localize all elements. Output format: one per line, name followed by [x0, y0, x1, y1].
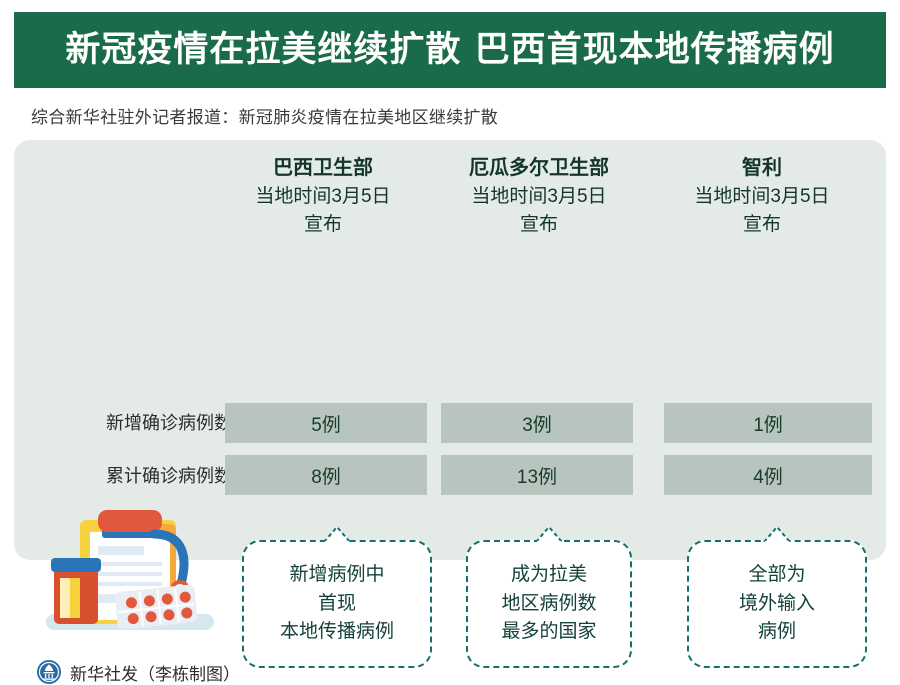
- callout-line: 境外输入: [739, 590, 815, 619]
- table-cell-total-chile: 4例: [664, 455, 872, 495]
- column-date: 当地时间3月5日: [441, 183, 637, 211]
- callout-chile: 全部为 境外输入 病例: [687, 540, 867, 668]
- column-date: 当地时间3月5日: [225, 183, 421, 211]
- table-header-row: 巴西卫生部 当地时间3月5日 宣布 厄瓜多尔卫生部 当地时间3月5日 宣布 智利…: [14, 154, 886, 250]
- row-label-new-cases: 新增确诊病例数: [40, 405, 232, 441]
- subtitle-text: 综合新华社驻外记者报道：新冠肺炎疫情在拉美地区继续扩散: [31, 103, 498, 128]
- callout-pointer-icon: [762, 525, 792, 542]
- page-title: 新冠疫情在拉美继续扩散 巴西首现本地传播病例: [65, 33, 834, 68]
- callout-line: 成为拉美: [511, 561, 587, 590]
- column-header-chile: 智利 当地时间3月5日 宣布: [664, 154, 860, 238]
- column-announce: 宣布: [664, 211, 860, 239]
- column-header-ecuador: 厄瓜多尔卫生部 当地时间3月5日 宣布: [441, 154, 637, 238]
- column-header-brazil: 巴西卫生部 当地时间3月5日 宣布: [225, 154, 421, 238]
- callout-line: 最多的国家: [501, 618, 596, 647]
- column-org-name: 智利: [664, 154, 860, 183]
- table-cell-total-brazil: 8例: [225, 455, 427, 495]
- column-announce: 宣布: [441, 211, 637, 239]
- credit-line: 新华社发（李栋制图）: [36, 659, 240, 685]
- column-date: 当地时间3月5日: [664, 183, 860, 211]
- callout-line: 全部为: [748, 561, 805, 590]
- callout-brazil: 新增病例中 首现 本地传播病例: [242, 540, 432, 668]
- callout-ecuador: 成为拉美 地区病例数 最多的国家: [466, 540, 632, 668]
- row-label-total-cases: 累计确诊病例数: [40, 458, 232, 494]
- callout-line: 本地传播病例: [280, 618, 394, 647]
- column-announce: 宣布: [225, 211, 421, 239]
- header-banner: 新冠疫情在拉美继续扩散 巴西首现本地传播病例: [14, 12, 886, 88]
- callout-line: 首现: [318, 590, 356, 619]
- column-org-name: 厄瓜多尔卫生部: [441, 154, 637, 183]
- content-card: 巴西卫生部 当地时间3月5日 宣布 厄瓜多尔卫生部 当地时间3月5日 宣布 智利…: [14, 140, 886, 560]
- credit-text: 新华社发（李栋制图）: [70, 660, 240, 685]
- callout-line: 新增病例中: [289, 561, 384, 590]
- xinhua-logo-icon: [36, 659, 62, 685]
- column-org-name: 巴西卫生部: [225, 154, 421, 183]
- callout-pointer-icon: [322, 525, 352, 542]
- table-cell-new-chile: 1例: [664, 403, 872, 443]
- table-cell-total-ecuador: 13例: [441, 455, 633, 495]
- table-cell-new-brazil: 5例: [225, 403, 427, 443]
- callout-line: 病例: [758, 618, 796, 647]
- table-cell-new-ecuador: 3例: [441, 403, 633, 443]
- medical-supplies-illustration: [38, 510, 228, 640]
- callout-line: 地区病例数: [501, 590, 596, 619]
- callout-pointer-icon: [534, 525, 564, 542]
